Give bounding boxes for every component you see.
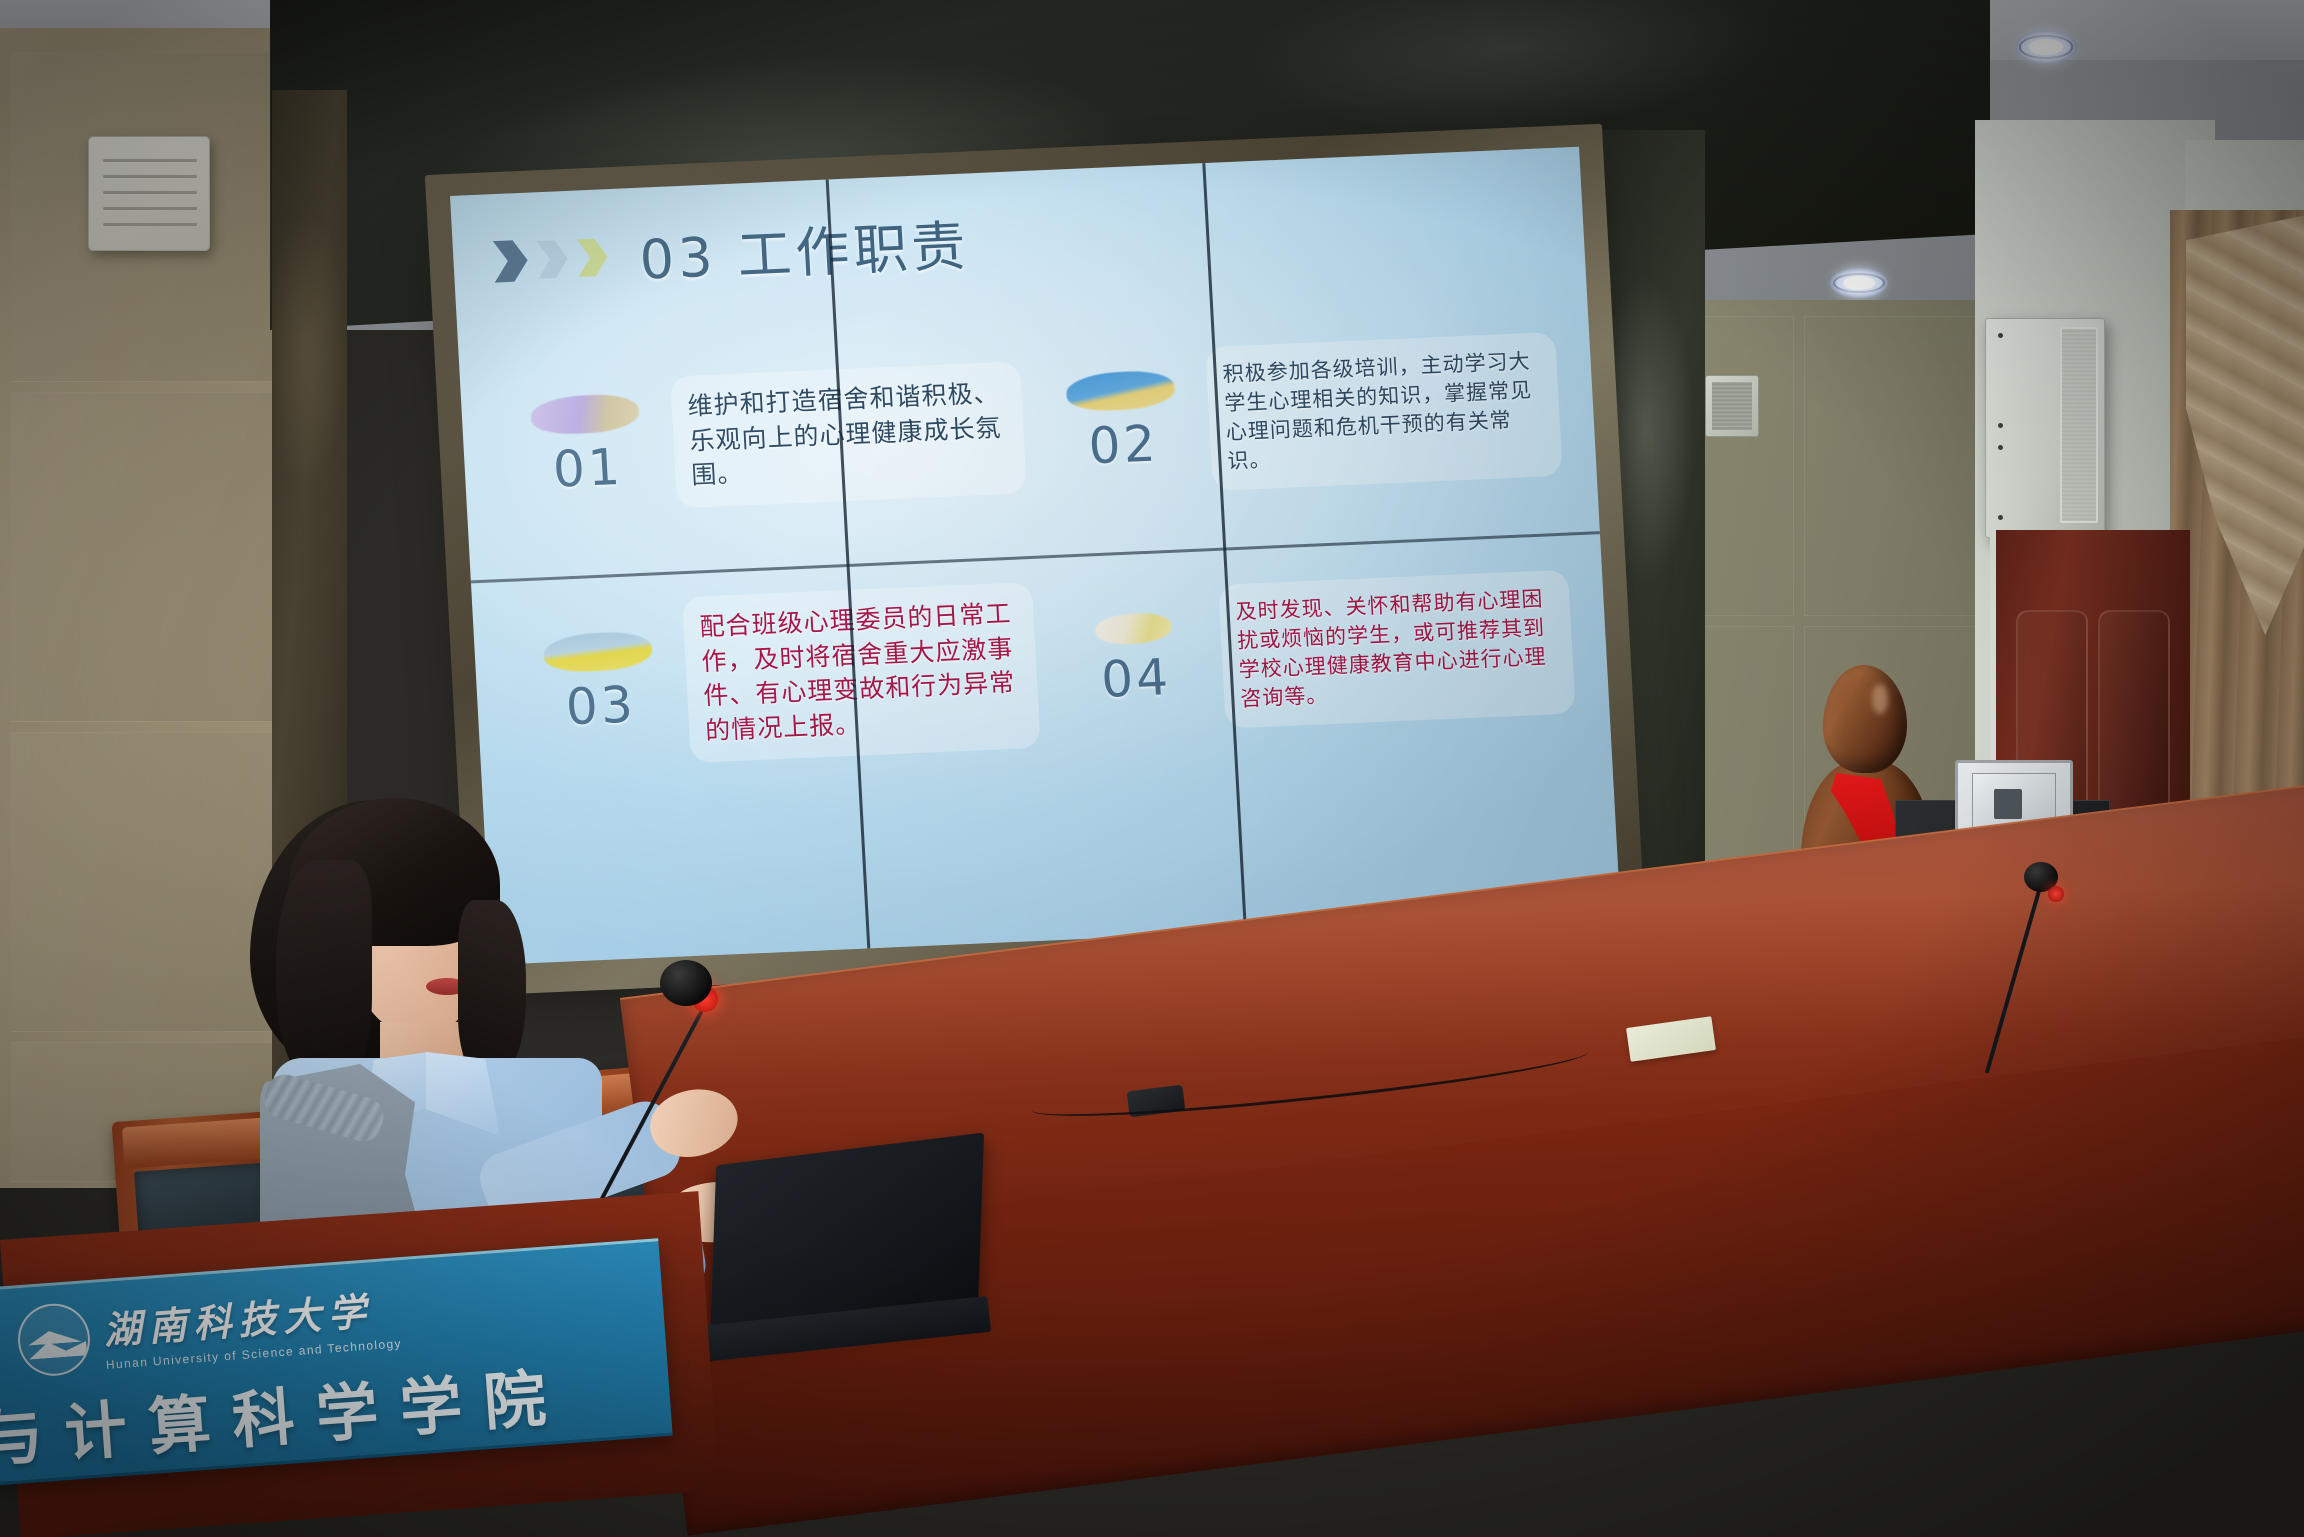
speaker-screw: [1998, 515, 2003, 520]
speaker-screw: [1998, 445, 2003, 450]
slide-item-text: 配合班级心理委员的日常工作，及时将宿舍重大应激事件、有心理变故和行为异常的情况上…: [699, 597, 1024, 749]
slide-item-number: 03: [524, 674, 677, 738]
wall-panel: [1804, 316, 1994, 616]
ac-louver: [103, 175, 197, 178]
speaker-screw: [1998, 423, 2003, 428]
slide-item-bubble: 及时发现、关怀和帮助有心理困扰或烦恼的学生，或可推荐其到学校心理健康教育中心进行…: [1218, 570, 1575, 729]
speaker-grille: [1712, 382, 1752, 430]
slide-item-numblock: 01: [509, 392, 664, 500]
slide-item-numblock: 03: [522, 630, 677, 738]
speaker-screw: [1998, 333, 2003, 338]
slide-item-number: 02: [1047, 413, 1200, 477]
slide-item-numblock: 02: [1045, 369, 1200, 477]
screenshot-root: 03 工作职责 01 维护和打造宿舍和谐积极、乐观向上的心理健康成长氛围。: [0, 0, 2304, 1537]
wall-mounted-loudspeaker: [1985, 318, 2105, 538]
ac-louver: [103, 159, 197, 162]
ac-unit-panel: [88, 136, 210, 251]
slide-item-01: 01 维护和打造宿舍和谐积极、乐观向上的心理健康成长氛围。: [506, 321, 1029, 555]
banner-university-names: 湖南科技大学 Hunan University of Science and T…: [101, 1278, 402, 1372]
slide-item-04: 04 及时发现、关怀和帮助有心理困扰或烦恼的学生，或可推荐其到学校心理健康教育中…: [1054, 536, 1577, 770]
hair-right-side: [458, 900, 526, 1080]
slide-item-number: 04: [1060, 646, 1213, 710]
brush-stroke-white-yellow-icon: [1095, 612, 1173, 645]
slide-title-number: 03: [638, 225, 718, 291]
chevron-right-icon: [537, 239, 569, 278]
wall-speaker-small: [1705, 375, 1759, 437]
logo-wave-shape: [27, 1328, 82, 1346]
slide-item-bubble: 维护和打造宿舍和谐积极、乐观向上的心理健康成长氛围。: [670, 362, 1027, 509]
slide-item-03: 03 配合班级心理委员的日常工作，及时将宿舍重大应激事件、有心理变故和行为异常的…: [519, 559, 1042, 793]
brush-stroke-blue-yellow-icon: [1066, 370, 1176, 413]
microphone-led-red-icon: [2048, 886, 2064, 902]
slide-item-02: 02 积极参加各级培训，主动学习大学生心理相关的知识，掌握常见心理问题和危机干预…: [1042, 298, 1565, 532]
slide-item-bubble: 配合班级心理委员的日常工作，及时将宿舍重大应激事件、有心理变故和行为异常的情况上…: [682, 582, 1041, 763]
slide-item-text: 维护和打造宿舍和谐积极、乐观向上的心理健康成长氛围。: [687, 376, 1010, 493]
chevron-right-icon: [492, 239, 528, 282]
slide-item-number: 01: [511, 436, 664, 500]
slide-item-text: 积极参加各级培训，主动学习大学生心理相关的知识，掌握常见心理问题和危机干预的有关…: [1222, 347, 1546, 477]
brush-stroke-purple-icon: [530, 393, 640, 436]
ac-louver: [103, 223, 197, 226]
downlight-5: [2015, 30, 2077, 64]
slide-title-text: 工作职责: [736, 214, 971, 287]
slide-item-numblock: 04: [1058, 610, 1213, 710]
slide-item-text: 及时发现、关怀和帮助有心理困扰或烦恼的学生，或可推荐其到学校心理健康教育中心进行…: [1235, 584, 1559, 714]
hair-left-side: [276, 860, 372, 1090]
slide-title: 03 工作职责: [637, 201, 971, 294]
mountain-wave-circle-logo-icon: [15, 1301, 92, 1378]
chevron-right-icon: [577, 238, 609, 277]
microphone-capsule: [660, 960, 712, 1006]
slide-item-bubble: 积极参加各级培训，主动学习大学生心理相关的知识，掌握常见心理问题和危机干预的有关…: [1205, 332, 1562, 491]
wall-panel: [10, 392, 282, 722]
speaker-grille: [2060, 327, 2098, 523]
ac-louver: [103, 191, 197, 194]
downlight-6: [1830, 268, 1888, 298]
brush-stroke-blue-gold-icon: [543, 631, 653, 674]
ac-louver: [103, 207, 197, 210]
bust-head: [1823, 665, 1907, 773]
slide-title-row: 03 工作职责: [491, 201, 971, 301]
slide-items-grid: 01 维护和打造宿舍和谐积极、乐观向上的心理健康成长氛围。 02 积极参加各级培…: [506, 298, 1577, 793]
